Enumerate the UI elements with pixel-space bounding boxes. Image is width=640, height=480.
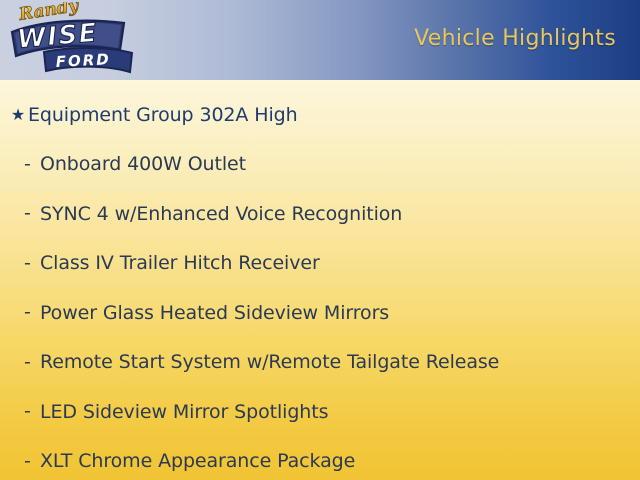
dash-bullet-icon: - (24, 353, 40, 372)
logo-ford-banner: FORD (44, 48, 132, 72)
highlight-feature-label: Class IV Trailer Hitch Receiver (40, 252, 320, 274)
highlight-group-label: Equipment Group 302A High (28, 104, 298, 126)
star-bullet-icon: ★ (8, 107, 28, 123)
vehicle-highlights-slide: Randy WISE FORD Vehicle Highlights ★Equi… (0, 0, 640, 480)
highlight-feature-row: -Class IV Trailer Hitch Receiver (0, 239, 640, 288)
highlight-feature-label: Power Glass Heated Sideview Mirrors (40, 302, 389, 324)
randy-wise-ford-logo: Randy WISE FORD (6, 2, 136, 78)
slide-header: Randy WISE FORD Vehicle Highlights (0, 0, 640, 80)
page-title: Vehicle Highlights (414, 26, 616, 51)
highlight-feature-label: Remote Start System w/Remote Tailgate Re… (40, 351, 499, 373)
highlight-feature-row: -XLT Chrome Appearance Package (0, 437, 640, 480)
highlight-feature-label: SYNC 4 w/Enhanced Voice Recognition (40, 203, 402, 225)
highlight-feature-row: -Remote Start System w/Remote Tailgate R… (0, 338, 640, 387)
highlights-list: ★Equipment Group 302A High-Onboard 400W … (0, 80, 640, 480)
highlight-feature-label: LED Sideview Mirror Spotlights (40, 401, 328, 423)
dash-bullet-icon: - (24, 402, 40, 421)
highlight-feature-row: -LED Sideview Mirror Spotlights (0, 387, 640, 436)
dash-bullet-icon: - (24, 254, 40, 273)
highlight-feature-row: -SYNC 4 w/Enhanced Voice Recognition (0, 189, 640, 238)
dash-bullet-icon: - (24, 204, 40, 223)
highlight-feature-row: -Onboard 400W Outlet (0, 140, 640, 189)
highlight-group-row: ★Equipment Group 302A High (0, 90, 640, 139)
highlight-feature-label: Onboard 400W Outlet (40, 153, 246, 175)
highlight-feature-label: XLT Chrome Appearance Package (40, 450, 355, 472)
svg-text:FORD: FORD (55, 50, 111, 71)
dash-bullet-icon: - (24, 452, 40, 471)
dash-bullet-icon: - (24, 303, 40, 322)
highlight-feature-row: -Power Glass Heated Sideview Mirrors (0, 288, 640, 337)
dash-bullet-icon: - (24, 155, 40, 174)
